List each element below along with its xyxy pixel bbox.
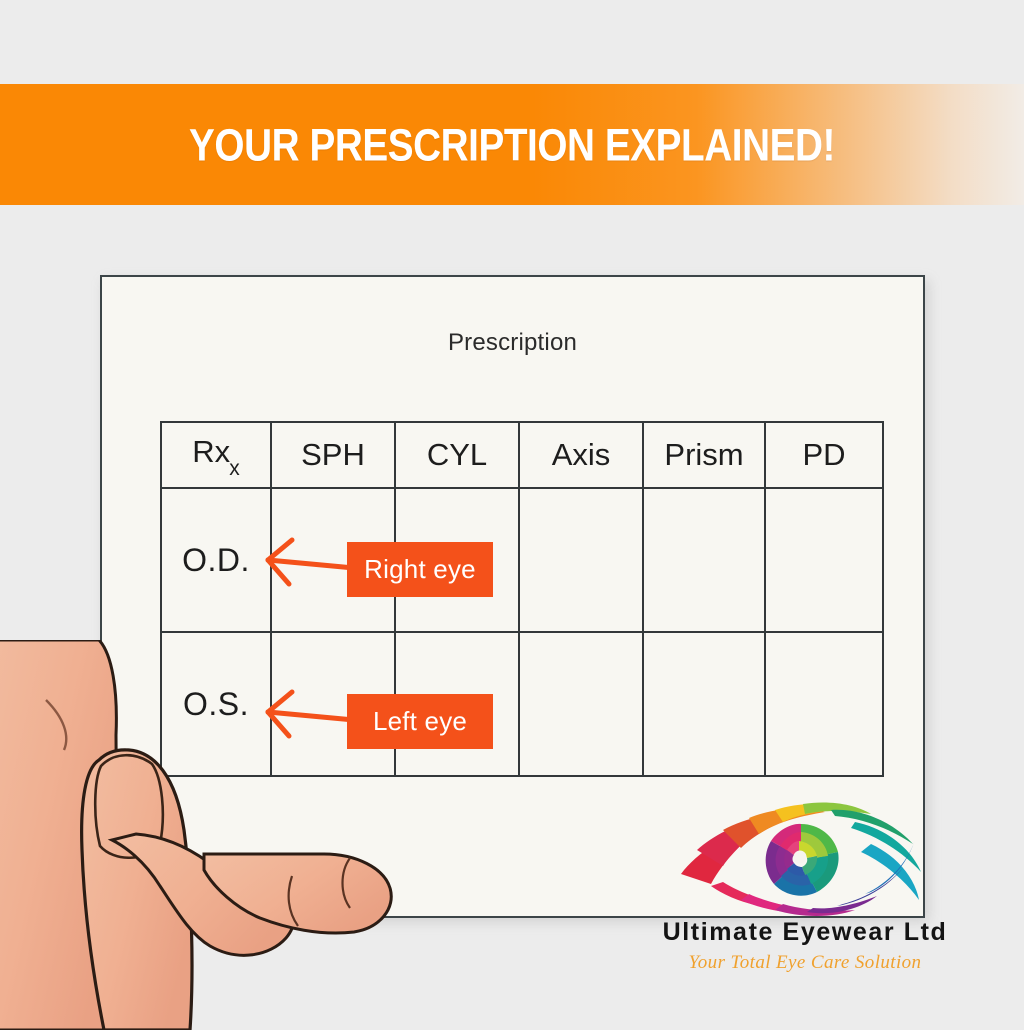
cell-od-prism[interactable] <box>643 488 765 632</box>
cell-od-pd[interactable] <box>765 488 883 632</box>
hand-illustration <box>0 640 414 1030</box>
column-header-sph: SPH <box>271 422 395 488</box>
cell-od-axis[interactable] <box>519 488 643 632</box>
row-label-od: O.D. <box>161 488 271 632</box>
brand-logo: Ultimate Eyewear Ltd Your Total Eye Care… <box>655 800 955 990</box>
cell-os-pd[interactable] <box>765 632 883 776</box>
column-header-prism: Prism <box>643 422 765 488</box>
column-header-cyl: CYL <box>395 422 519 488</box>
callout-right-eye[interactable]: Right eye <box>347 542 493 597</box>
page-root: YOUR PRESCRIPTION EXPLAINED! Prescriptio… <box>0 0 1024 1024</box>
page-title: YOUR PRESCRIPTION EXPLAINED! <box>72 122 953 167</box>
header-banner: YOUR PRESCRIPTION EXPLAINED! <box>0 84 1024 205</box>
table-header-row: Rxx SPH CYL Axis Prism PD <box>161 422 883 488</box>
card-title: Prescription <box>102 329 923 357</box>
callout-right-eye-label: Right eye <box>364 554 476 585</box>
rainbow-swirl-eye-icon <box>675 800 927 918</box>
table-row: O.D. <box>161 488 883 632</box>
logo-iris <box>766 824 839 896</box>
column-header-pd: PD <box>765 422 883 488</box>
cell-os-axis[interactable] <box>519 632 643 776</box>
column-header-axis: Axis <box>519 422 643 488</box>
cell-os-prism[interactable] <box>643 632 765 776</box>
brand-name: Ultimate Eyewear Ltd <box>655 918 955 947</box>
rx-subscript: x <box>229 457 240 481</box>
column-header-rx: Rxx <box>161 422 271 488</box>
column-header-rx-label: Rx <box>192 434 230 469</box>
brand-tagline: Your Total Eye Care Solution <box>655 952 955 974</box>
